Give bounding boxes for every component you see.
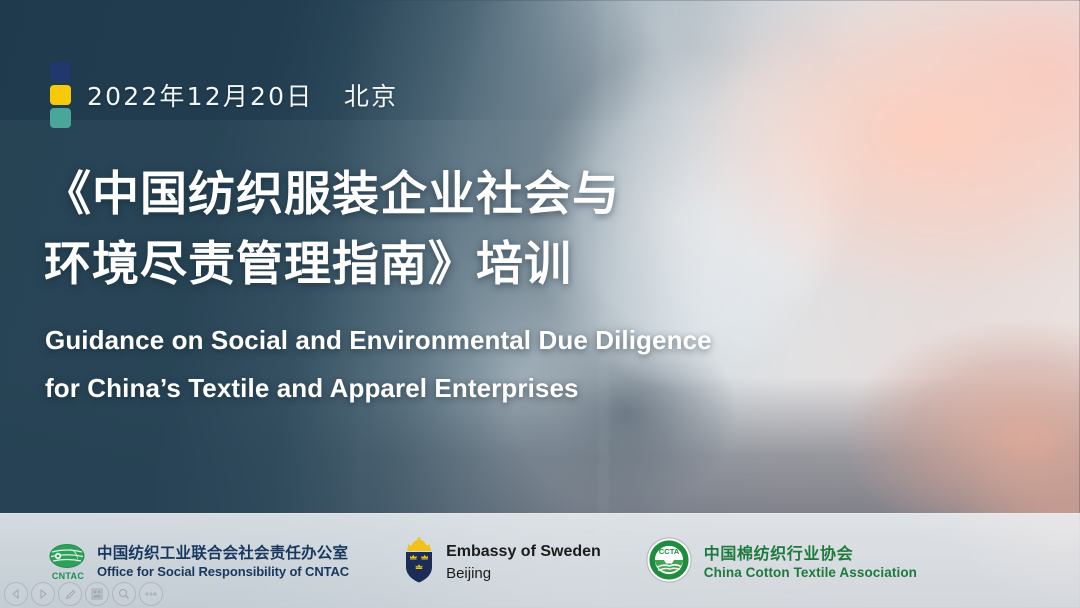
logo-ccta: CCTA 中国棉纺织行业协会 China Cotton Textile Asso… (645, 536, 917, 589)
logo-embassy-of-sweden: Embassy of Sweden Beijing (403, 537, 601, 588)
triangle-right-icon (38, 589, 48, 599)
slide-title-chinese: 《中国纺织服装企业社会与 环境尽责管理指南》培训 (44, 160, 744, 299)
presentation-slide: 京 2022年12月20日 北京 《中国纺织服装企业社会与 环境尽责管理指南》培… (0, 0, 1080, 608)
sweden-city: Beijing (446, 563, 601, 585)
slide-grid-button[interactable] (85, 582, 109, 606)
ccta-label: 中国棉纺织行业协会 China Cotton Textile Associati… (704, 543, 917, 583)
pen-icon (64, 588, 77, 601)
sweden-label: Embassy of Sweden Beijing (446, 540, 601, 585)
sweden-name: Embassy of Sweden (446, 540, 601, 563)
zoom-button[interactable] (112, 582, 136, 606)
sweden-coat-of-arms-icon (403, 537, 435, 588)
triangle-left-icon (11, 589, 21, 599)
ccta-name-chinese: 中国棉纺织行业协会 (704, 543, 917, 565)
grid-icon (91, 588, 103, 600)
ccta-name-english: China Cotton Textile Association (704, 564, 917, 582)
footer-logos: CNTAC 中国纺织工业联合会社会责任办公室 Office for Social… (46, 536, 917, 589)
cntac-name-chinese: 中国纺织工业联合会社会责任办公室 (97, 544, 349, 563)
square-teal-icon (50, 108, 71, 128)
three-squares-logo-icon (50, 62, 71, 128)
title-en-line-2: for China’s Textile and Apparel Enterpri… (45, 364, 745, 412)
slide-subtitle-english: Guidance on Social and Environmental Due… (45, 316, 745, 412)
square-yellow-icon (50, 85, 71, 105)
title-cn-line-2: 环境尽责管理指南》培训 (44, 230, 744, 300)
magnifier-icon (118, 588, 130, 600)
ellipsis-icon (144, 591, 158, 597)
cntac-label: 中国纺织工业联合会社会责任办公室 Office for Social Respo… (97, 544, 349, 580)
more-options-button[interactable] (139, 582, 163, 606)
ccta-seal-icon: CCTA (645, 536, 693, 589)
next-slide-button[interactable] (31, 582, 55, 606)
cntac-globe-icon: CNTAC (46, 544, 90, 581)
logo-cntac: CNTAC 中国纺织工业联合会社会责任办公室 Office for Social… (46, 544, 349, 581)
date-location-text: 2022年12月20日 北京 (87, 77, 398, 113)
previous-slide-button[interactable] (4, 582, 28, 606)
cntac-wordmark: CNTAC (52, 571, 84, 581)
date-location-row: 2022年12月20日 北京 (50, 62, 398, 128)
viewer-toolbar[interactable] (4, 582, 163, 606)
svg-text:CCTA: CCTA (659, 547, 680, 556)
title-cn-line-1: 《中国纺织服装企业社会与 (44, 160, 744, 230)
pen-tool-button[interactable] (58, 582, 82, 606)
cntac-name-english: Office for Social Responsibility of CNTA… (97, 564, 349, 581)
title-en-line-1: Guidance on Social and Environmental Due… (45, 316, 745, 364)
square-blue-icon (50, 62, 71, 82)
